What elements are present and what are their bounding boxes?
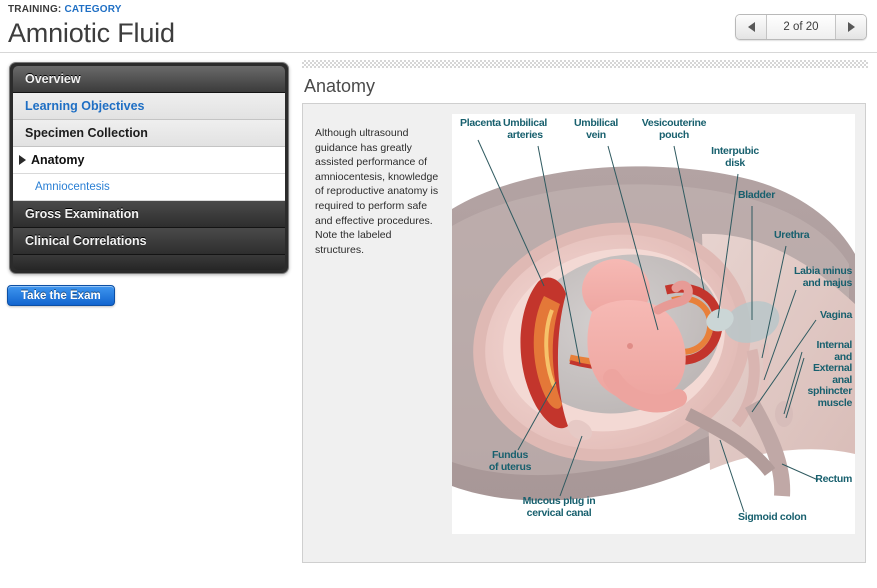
triangle-right-icon — [19, 155, 26, 165]
sidebar-item-anatomy[interactable]: Anatomy — [13, 147, 285, 174]
sidebar-item-label: Specimen Collection — [25, 126, 148, 140]
page-header: TRAINING: CATEGORY Amniotic Fluid — [8, 4, 175, 49]
intro-paragraph: Although ultrasound guidance has greatly… — [315, 126, 440, 257]
sidebar-item-learning-objectives[interactable]: Learning Objectives — [13, 93, 285, 120]
figure-label-anal-sphincter: InternalandExternalanalsphinctermuscle — [748, 340, 852, 409]
sidebar-item-gross-examination[interactable]: Gross Examination — [13, 201, 285, 228]
figure-label-labia: Labia minusand majus — [742, 266, 852, 289]
triangle-left-icon — [748, 22, 755, 32]
sidebar-nav-list: Overview Learning Objectives Specimen Co… — [13, 66, 285, 270]
sidebar-item-label: Learning Objectives — [25, 99, 144, 113]
sidebar-item-specimen-collection[interactable]: Specimen Collection — [13, 120, 285, 147]
content-area: Anatomy Although ultrasound guidance has… — [302, 60, 868, 563]
figure-label-fundus-of-uterus: Fundusof uterus — [470, 450, 550, 473]
content-panel: Although ultrasound guidance has greatly… — [302, 103, 866, 563]
next-page-button[interactable] — [835, 15, 866, 39]
pagination-control[interactable]: 2 of 20 — [735, 14, 867, 40]
sidebar-item-overview[interactable]: Overview — [13, 66, 285, 93]
figure-label-vagina: Vagina — [752, 310, 852, 322]
breadcrumb-category-link[interactable]: CATEGORY — [64, 4, 121, 15]
figure-label-interpubic-disk: Interpubicdisk — [702, 146, 768, 169]
pagination-label: 2 of 20 — [767, 15, 835, 39]
figure-label-sigmoid-colon: Sigmoid colon — [738, 512, 806, 524]
fetal-umbilicus — [627, 343, 633, 349]
section-title: Anatomy — [304, 75, 868, 97]
page-title: Amniotic Fluid — [8, 17, 175, 49]
sidebar-item-label: Anatomy — [31, 153, 84, 167]
figure-label-rectum: Rectum — [762, 474, 852, 486]
sidebar-item-label: Amniocentesis — [35, 181, 110, 193]
hatched-divider — [302, 60, 868, 68]
anatomy-figure: Placenta Umbilicalarteries Umbilicalvein… — [452, 114, 855, 534]
prev-page-button[interactable] — [736, 15, 767, 39]
sidebar-footer-strip — [13, 255, 285, 270]
figure-label-vesicouterine-pouch: Vesicouterinepouch — [634, 118, 714, 141]
figure-label-umbilical-arteries: Umbilicalarteries — [494, 118, 556, 141]
figure-label-bladder: Bladder — [738, 190, 775, 202]
figure-label-urethra: Urethra — [774, 230, 809, 242]
sidebar-nav: Overview Learning Objectives Specimen Co… — [9, 62, 289, 274]
header-divider — [0, 52, 877, 53]
breadcrumb: TRAINING: CATEGORY — [8, 4, 175, 16]
sidebar-item-label: Overview — [25, 72, 81, 86]
sidebar-item-label: Gross Examination — [25, 207, 139, 221]
figure-label-umbilical-vein: Umbilicalvein — [568, 118, 624, 141]
figure-label-mucous-plug: Mucous plug incervical canal — [500, 496, 618, 519]
sidebar-item-clinical-correlations[interactable]: Clinical Correlations — [13, 228, 285, 255]
sidebar-item-label: Clinical Correlations — [25, 234, 147, 248]
take-exam-button[interactable]: Take the Exam — [7, 285, 115, 306]
breadcrumb-training-label: TRAINING: — [8, 4, 61, 15]
triangle-right-icon — [848, 22, 855, 32]
sidebar-item-amniocentesis[interactable]: Amniocentesis — [13, 174, 285, 201]
